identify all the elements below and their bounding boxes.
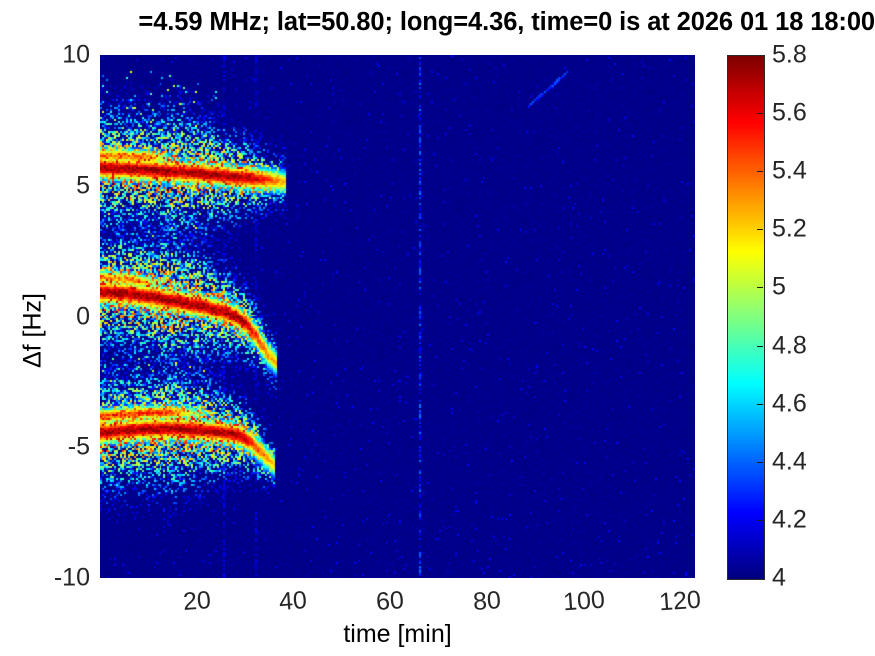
colorbar-tick-mark <box>757 287 763 288</box>
spectrogram-heatmap[interactable] <box>100 55 695 578</box>
colorbar-tick-label: 4.4 <box>772 449 807 474</box>
colorbar-tick-label: 5.6 <box>772 101 807 126</box>
colorbar-tick-label: 5.8 <box>772 43 807 68</box>
colorbar-tick-label: 4.2 <box>772 507 807 532</box>
x-tick-label: 40 <box>279 588 308 615</box>
colorbar-tick-label: 5 <box>772 275 786 300</box>
y-tick-label: -10 <box>20 566 90 591</box>
x-tick-label: 100 <box>562 588 605 616</box>
x-tick-label: 60 <box>375 588 404 615</box>
colorbar-tick-mark <box>757 113 763 114</box>
colorbar-tick-mark <box>757 404 763 405</box>
colorbar-tick-mark <box>757 520 763 521</box>
colorbar-tick-mark <box>757 171 763 172</box>
colorbar-tick-label: 5.2 <box>772 217 807 242</box>
colorbar-tick-mark <box>757 229 763 230</box>
figure-title: =4.59 MHz; lat=50.80; long=4.36, time=0 … <box>0 6 875 38</box>
y-tick-label: 0 <box>20 304 90 329</box>
y-axis-label: Δf [Hz] <box>19 251 48 411</box>
x-tick-label: 120 <box>659 588 702 616</box>
x-axis-label: time [min] <box>100 620 695 649</box>
y-tick-label: 5 <box>20 173 90 198</box>
colorbar-tick-label: 4 <box>772 566 786 591</box>
figure-window: =4.59 MHz; lat=50.80; long=4.36, time=0 … <box>0 0 875 656</box>
colorbar-tick-label: 4.6 <box>772 391 807 416</box>
colorbar-tick-label: 4.8 <box>772 333 807 358</box>
colorbar[interactable] <box>727 55 765 580</box>
colorbar-tick-mark <box>757 346 763 347</box>
colorbar-tick-label: 5.4 <box>772 159 807 184</box>
colorbar-tick-mark <box>757 462 763 463</box>
y-tick-label: 10 <box>20 43 90 68</box>
x-tick-label: 80 <box>472 588 501 615</box>
y-tick-label: -5 <box>20 435 90 460</box>
x-tick-label: 20 <box>182 588 211 615</box>
